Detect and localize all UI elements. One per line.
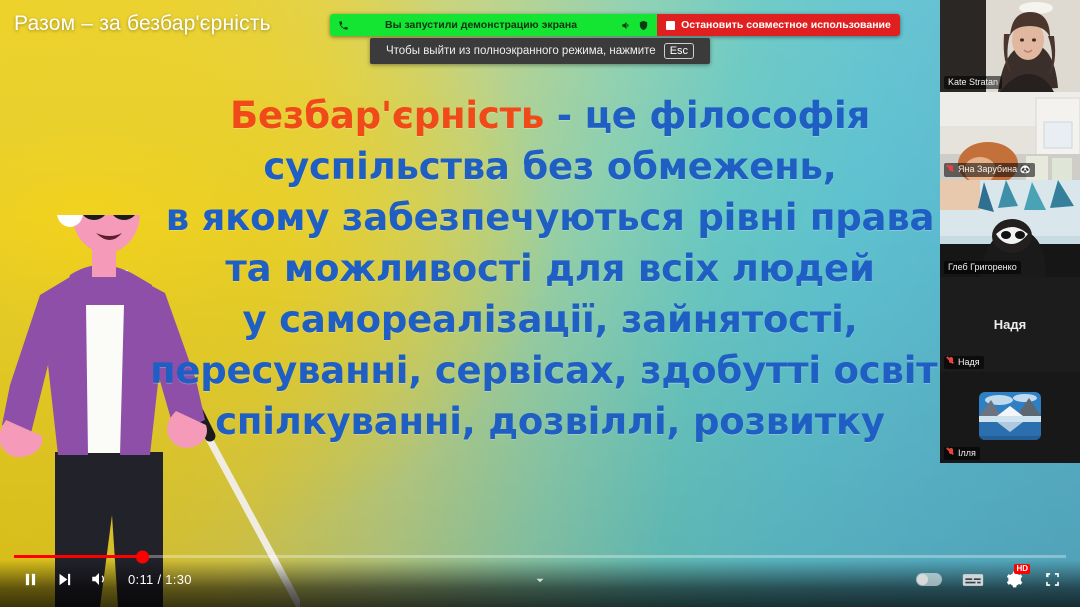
participant-name-label: Яна Зарубина 🐼: [944, 163, 1035, 177]
avatar-mountain-lake-image: [979, 392, 1041, 440]
exit-fullscreen-button[interactable]: [1043, 570, 1062, 589]
pause-button[interactable]: [22, 571, 39, 588]
stop-sharing-button[interactable]: Остановить совместное использование: [657, 14, 900, 36]
progress-played: [14, 555, 142, 558]
participant-name-label: Kate Stratan: [944, 76, 1002, 89]
avatar: [979, 392, 1041, 440]
slide-title: Разом – за безбар'єрність: [14, 12, 271, 36]
mic-muted-icon: [948, 448, 955, 458]
participant-name-text: Kate Stratan: [948, 77, 998, 87]
progress-bar[interactable]: [14, 555, 1066, 558]
slide-highlight-word: Безбар'єрність: [230, 94, 544, 137]
slide-line-5: у самореалізації, зайнятості,: [150, 294, 950, 345]
shield-icon[interactable]: [638, 20, 649, 31]
screen-share-view: Разом – за безбар'єрність: [0, 0, 1080, 607]
participant-name-label: Ілля: [944, 447, 980, 460]
subtitles-button[interactable]: [962, 572, 984, 588]
settings-gear-button[interactable]: HD: [1004, 570, 1023, 589]
fullscreen-hint-text: Чтобы выйти из полноэкранного режима, на…: [386, 45, 656, 57]
player-right-controls: HD: [916, 570, 1062, 589]
participant-tile-gleb-grigorenko[interactable]: Глеб Григоренко: [940, 180, 1080, 277]
stop-square-icon: [666, 21, 675, 30]
pause-icon: [920, 576, 926, 583]
participant-name-label: Глеб Григоренко: [944, 261, 1021, 274]
participant-tile-illya[interactable]: Ілля: [940, 372, 1080, 463]
share-bar: Вы запустили демонстрацию экрана Останов…: [330, 14, 900, 36]
share-status-bar[interactable]: Вы запустили демонстрацию экрана: [330, 14, 657, 36]
slide-line-1: Безбар'єрність - це філософія: [150, 90, 950, 141]
share-status-text: Вы запустили демонстрацию экрана: [355, 19, 615, 31]
slide-line-1-rest: - це філософія: [544, 94, 870, 137]
participant-tile-nadya[interactable]: Надя Надя: [940, 277, 1080, 372]
slide-body-text: Безбар'єрність - це філософія суспільств…: [150, 90, 950, 447]
quality-badge: HD: [1014, 564, 1030, 574]
participant-name-label: Надя: [944, 356, 984, 369]
slide-line-2: суспільства без обмежень,: [150, 141, 950, 192]
progress-knob[interactable]: [136, 550, 149, 563]
time-display: 0:11 / 1:30: [125, 572, 192, 587]
participant-tile-kate-stratan[interactable]: Kate Stratan: [940, 0, 1080, 92]
phone-icon: [338, 20, 349, 31]
autoplay-toggle[interactable]: [916, 573, 942, 586]
mic-muted-icon: [948, 357, 955, 367]
slide-line-4: та можливості для всіх людей: [150, 243, 950, 294]
fullscreen-hint: Чтобы выйти из полноэкранного режима, на…: [370, 38, 710, 64]
player-left-controls: 0:11 / 1:30: [22, 570, 192, 588]
participant-name-text: Яна Зарубина 🐼: [958, 164, 1031, 175]
slide-line-7: спілкуванні, дозвіллі, розвитку: [150, 396, 950, 447]
volume-button[interactable]: [90, 570, 108, 588]
chevron-down-button[interactable]: [532, 572, 549, 589]
participant-name-text: Ілля: [958, 448, 976, 458]
slide-line-6: пересуванні, сервісах, здобутті освіти,: [150, 345, 950, 396]
video-player-controls: 0:11 / 1:30 HD: [0, 560, 1080, 607]
next-video-button[interactable]: [56, 571, 73, 588]
esc-key-badge: Esc: [664, 43, 694, 59]
screen-share-banner: Вы запустили демонстрацию экрана Останов…: [330, 14, 900, 64]
speaker-icon[interactable]: [621, 20, 632, 31]
participant-name-text: Глеб Григоренко: [948, 262, 1017, 272]
slide-line-3: в якому забезпечуються рівні права: [150, 192, 950, 243]
participant-filmstrip: Kate Stratan Яна Зарубина 🐼: [940, 0, 1080, 463]
participant-tile-yana-zarubina[interactable]: Яна Зарубина 🐼: [940, 92, 1080, 180]
participant-name-text: Надя: [958, 357, 980, 367]
stop-sharing-label: Остановить совместное использование: [681, 19, 891, 31]
mic-muted-icon: [948, 165, 955, 175]
